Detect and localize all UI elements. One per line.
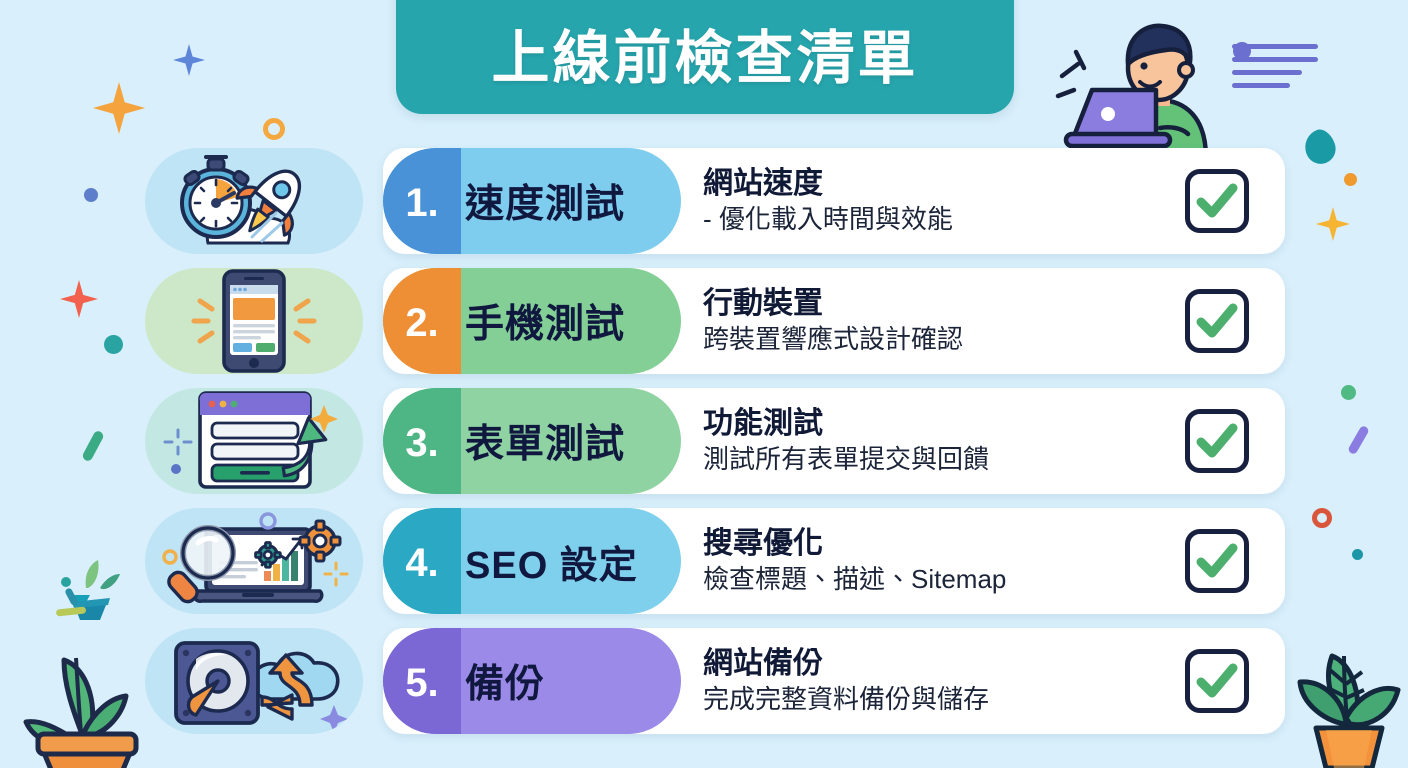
- item-number-4: 4.: [405, 543, 438, 583]
- checklist-row[interactable]: 5. 備份 網站備份 完成完整資料備份與儲存: [0, 626, 1408, 746]
- item-thumbnail-5: [145, 628, 363, 734]
- item-thumbnail-3: [145, 388, 363, 494]
- check-icon: [1194, 299, 1240, 343]
- item-pill-label-4: SEO 設定: [461, 534, 681, 589]
- check-icon: [1194, 659, 1240, 703]
- item-number-5: 5.: [405, 663, 438, 703]
- item-number-chip-2: 2.: [383, 268, 461, 374]
- page-title: 上線前檢查清單: [491, 30, 918, 114]
- item-number-chip-3: 3.: [383, 388, 461, 494]
- check-icon: [1194, 539, 1240, 583]
- seo-magnifier-laptop-icon: [154, 509, 354, 613]
- infographic-canvas: 上線前檢查清單: [0, 0, 1408, 768]
- item-pill-label-2: 手機測試: [461, 293, 681, 349]
- item-checkbox-1[interactable]: [1185, 169, 1249, 233]
- item-number-1: 1.: [405, 183, 438, 223]
- item-number-chip-5: 5.: [383, 628, 461, 734]
- item-checkbox-3[interactable]: [1185, 409, 1249, 473]
- item-number-chip-1: 1.: [383, 148, 461, 254]
- ring-orange-icon: [263, 118, 285, 140]
- form-window-arrow-icon: [154, 389, 354, 493]
- harddrive-cloud-icon: [154, 629, 354, 733]
- item-checkbox-4[interactable]: [1185, 529, 1249, 593]
- sparkle-blue-icon: [173, 44, 205, 76]
- item-pill-2[interactable]: 2. 手機測試: [383, 268, 681, 374]
- text-lines-icon: [1232, 44, 1332, 98]
- item-number-chip-4: 4.: [383, 508, 461, 614]
- checklist-row[interactable]: 1. 速度測試 網站速度 - 優化載入時間與效能: [0, 146, 1408, 266]
- item-pill-1[interactable]: 1. 速度測試: [383, 148, 681, 254]
- item-thumbnail-4: [145, 508, 363, 614]
- item-card-3[interactable]: 3. 表單測試 功能測試 測試所有表單提交與回饋: [383, 388, 1285, 494]
- checklist: 1. 速度測試 網站速度 - 優化載入時間與效能: [0, 146, 1408, 746]
- check-icon: [1194, 419, 1240, 463]
- item-checkbox-2[interactable]: [1185, 289, 1249, 353]
- page-title-banner: 上線前檢查清單: [396, 0, 1014, 114]
- stopwatch-rocket-icon: [154, 151, 354, 251]
- item-pill-5[interactable]: 5. 備份: [383, 628, 681, 734]
- checklist-row[interactable]: 4. SEO 設定 搜尋優化 檢查標題、描述、Sitemap: [0, 506, 1408, 626]
- checklist-row[interactable]: 3. 表單測試 功能測試 測試所有表單提交與回饋: [0, 386, 1408, 506]
- check-icon: [1194, 179, 1240, 223]
- item-card-5[interactable]: 5. 備份 網站備份 完成完整資料備份與儲存: [383, 628, 1285, 734]
- item-pill-label-3: 表單測試: [461, 413, 681, 469]
- item-thumbnail-2: [145, 268, 363, 374]
- item-checkbox-5[interactable]: [1185, 649, 1249, 713]
- item-card-1[interactable]: 1. 速度測試 網站速度 - 優化載入時間與效能: [383, 148, 1285, 254]
- checklist-row[interactable]: 2. 手機測試 行動裝置 跨裝置響應式設計確認: [0, 266, 1408, 386]
- item-number-3: 3.: [405, 423, 438, 463]
- item-pill-label-1: 速度測試: [461, 173, 681, 229]
- item-pill-label-5: 備份: [461, 653, 681, 709]
- item-pill-4[interactable]: 4. SEO 設定: [383, 508, 681, 614]
- item-pill-3[interactable]: 3. 表單測試: [383, 388, 681, 494]
- item-card-4[interactable]: 4. SEO 設定 搜尋優化 檢查標題、描述、Sitemap: [383, 508, 1285, 614]
- item-card-2[interactable]: 2. 手機測試 行動裝置 跨裝置響應式設計確認: [383, 268, 1285, 374]
- item-thumbnail-1: [145, 148, 363, 254]
- smartphone-icon: [154, 269, 354, 373]
- item-number-2: 2.: [405, 303, 438, 343]
- sparkle-orange-icon: [93, 82, 145, 134]
